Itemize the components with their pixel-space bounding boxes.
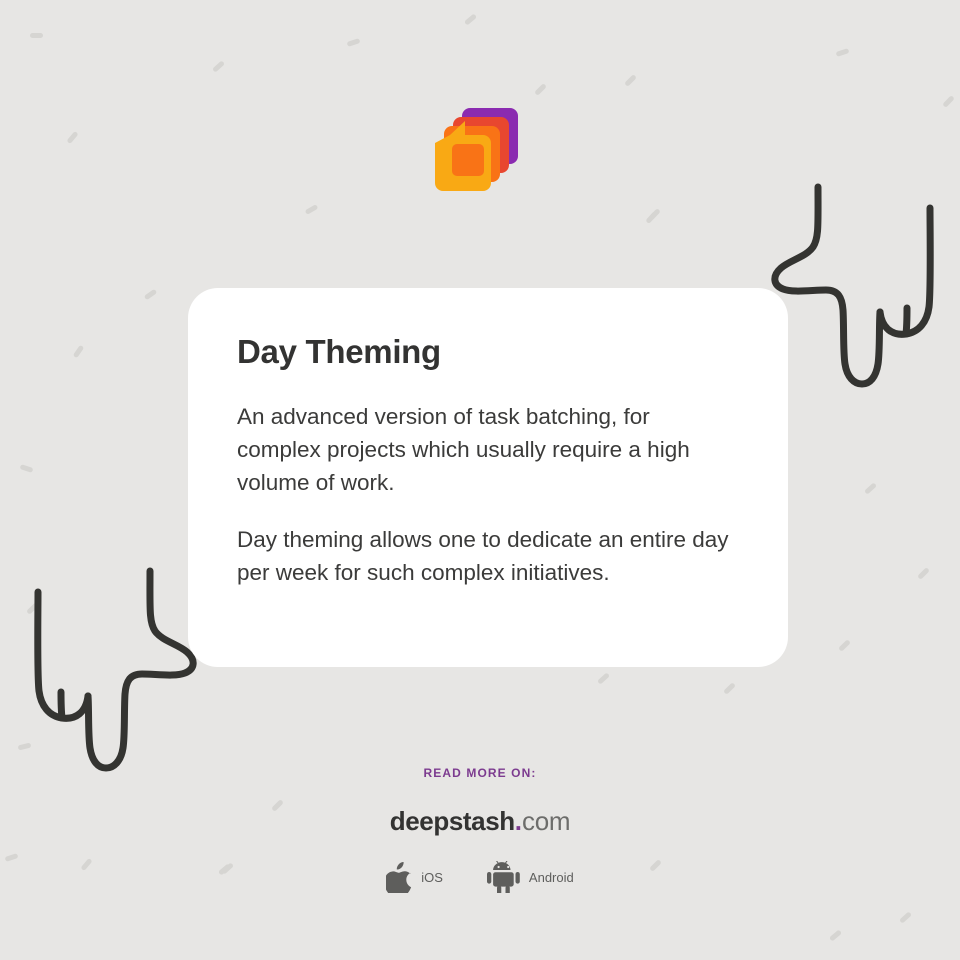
ios-badge-label: iOS: [421, 870, 443, 885]
confetti-dash: [144, 289, 158, 301]
confetti-dash: [20, 464, 34, 473]
confetti-dash: [648, 208, 661, 221]
android-badge-label: Android: [529, 870, 574, 885]
card-paragraph-1: An advanced version of task batching, fo…: [237, 400, 736, 499]
confetti-dash: [464, 13, 477, 25]
confetti-dash: [723, 682, 736, 695]
confetti-dash: [624, 74, 637, 87]
wordmark-name: deepstash: [390, 806, 515, 836]
confetti-dash: [838, 639, 851, 652]
read-more-label: READ MORE ON:: [0, 766, 960, 780]
pointing-hand-icon: [766, 176, 946, 391]
confetti-dash: [645, 211, 657, 224]
confetti-dash: [534, 83, 547, 96]
deepstash-logo: [0, 104, 960, 196]
confetti-dash: [305, 204, 319, 215]
wordmark-tld: com: [522, 806, 570, 836]
confetti-dash: [26, 602, 39, 615]
footer: READ MORE ON: deepstash.com iOS: [0, 766, 960, 893]
confetti-dash: [18, 743, 32, 751]
ios-store-badge[interactable]: iOS: [386, 862, 443, 893]
confetti-dash: [73, 345, 85, 359]
android-store-badge[interactable]: Android: [487, 861, 574, 893]
apple-icon: [386, 862, 412, 893]
wordmark-dot: .: [515, 806, 522, 836]
confetti-dash: [899, 911, 912, 923]
confetti-dash: [917, 567, 930, 580]
confetti-dash: [597, 672, 610, 684]
confetti-dash: [829, 929, 842, 941]
site-wordmark[interactable]: deepstash.com: [0, 808, 960, 834]
confetti-dash: [864, 482, 877, 494]
page-title: Day Theming: [237, 332, 736, 372]
android-icon: [487, 861, 520, 893]
card-paragraph-2: Day theming allows one to dedicate an en…: [237, 523, 736, 589]
idea-card: Day Theming An advanced version of task …: [188, 288, 788, 667]
store-badges: iOS Android: [0, 861, 960, 893]
pointing-hand-icon: [22, 560, 202, 775]
confetti-dash: [836, 48, 850, 57]
confetti-dash: [347, 38, 361, 47]
confetti-dash: [30, 33, 43, 38]
confetti-dash: [212, 60, 225, 72]
